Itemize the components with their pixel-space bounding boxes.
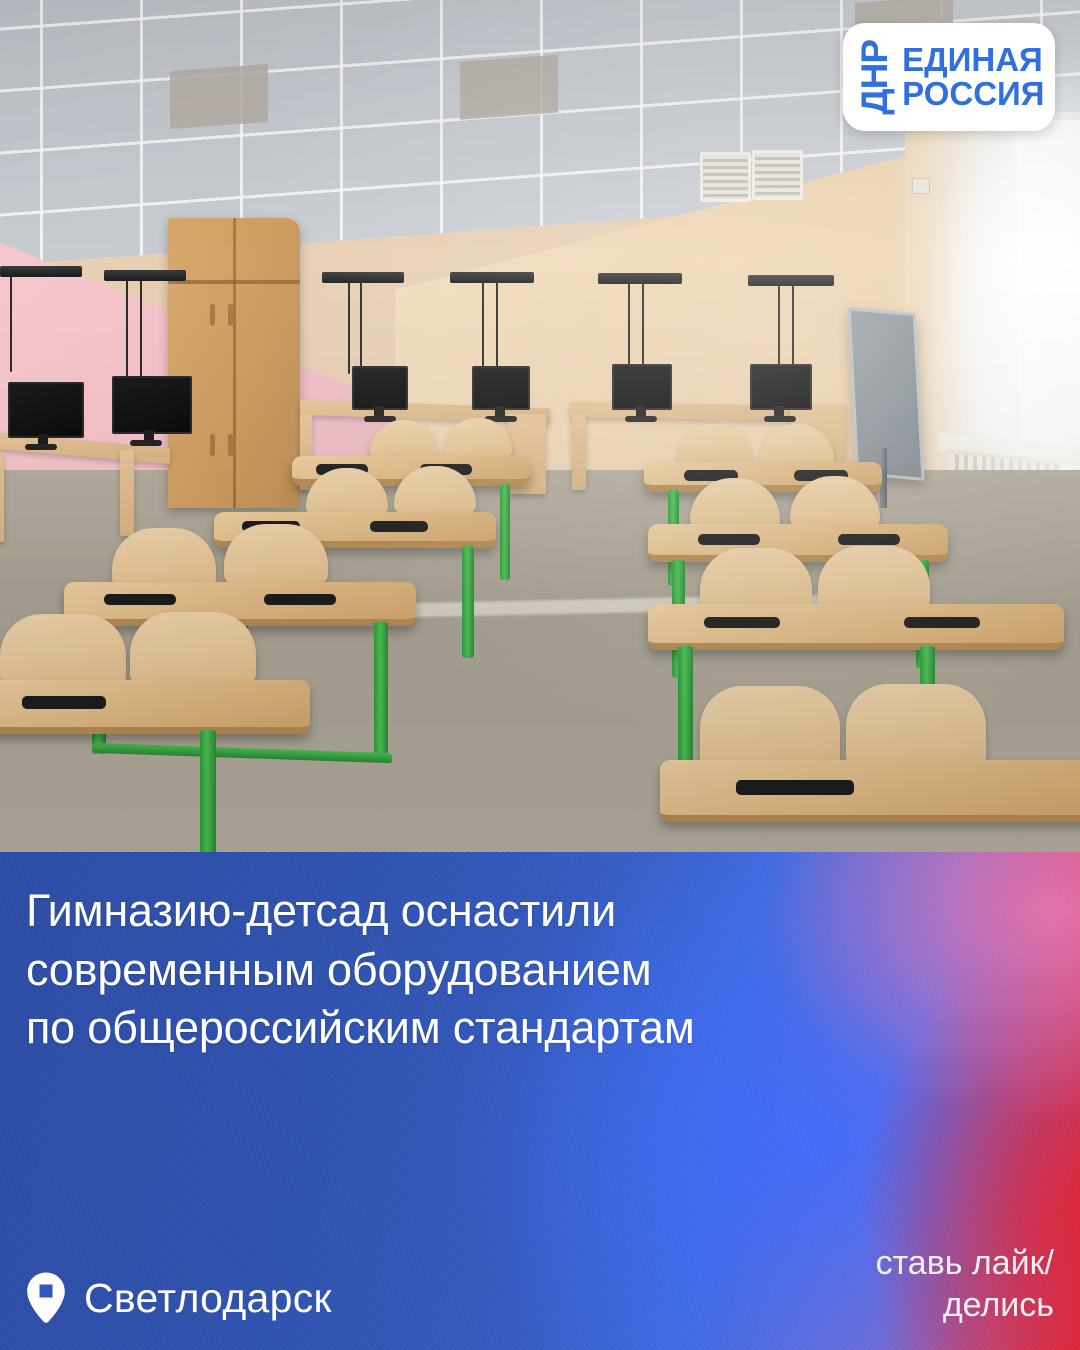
computer-desk bbox=[120, 450, 134, 536]
desk-leg bbox=[200, 730, 216, 858]
monitor-screen bbox=[612, 364, 672, 410]
power-cable bbox=[642, 283, 644, 371]
cabinet-door-split bbox=[233, 218, 236, 508]
student-desk bbox=[0, 680, 310, 734]
student-chair bbox=[846, 684, 986, 766]
location-label: Светлодарск bbox=[84, 1275, 332, 1322]
desk-leg bbox=[374, 622, 388, 762]
headline-line-1: Гимназию-детсад оснастили bbox=[26, 882, 986, 941]
logo-party-name: ЕДИНАЯ РОССИЯ bbox=[902, 43, 1044, 110]
computer-desk bbox=[0, 452, 4, 542]
power-cable bbox=[496, 282, 498, 374]
monitor-screen bbox=[352, 366, 408, 410]
power-cable bbox=[10, 276, 12, 372]
pencil bbox=[736, 780, 854, 795]
computer-monitor bbox=[472, 366, 526, 406]
logo-party-line2: РОССИЯ bbox=[902, 77, 1044, 111]
ceiling-tile-dark bbox=[460, 55, 558, 120]
cabinet-handle bbox=[210, 304, 215, 326]
logo-party-line1: ЕДИНАЯ bbox=[902, 43, 1044, 77]
headline-line-2: современным оборудованием bbox=[26, 941, 986, 1000]
student-chair bbox=[700, 548, 812, 612]
student-chair bbox=[0, 614, 126, 686]
student-desk bbox=[660, 760, 1080, 822]
computer-monitor bbox=[750, 364, 808, 406]
ventilation-grille bbox=[700, 152, 751, 202]
headline-line-3: по общероссийским стандартам bbox=[26, 999, 986, 1058]
power-strip bbox=[598, 273, 682, 284]
student-chair bbox=[112, 528, 216, 588]
power-strip bbox=[450, 272, 534, 283]
ventilation-grille bbox=[752, 150, 803, 200]
monitor-screen bbox=[750, 364, 812, 410]
power-cable bbox=[628, 283, 630, 367]
computer-monitor bbox=[112, 376, 188, 430]
student-chair bbox=[370, 420, 438, 460]
wooden-cabinet bbox=[168, 218, 300, 508]
pencil bbox=[264, 594, 336, 605]
computer-monitor bbox=[352, 366, 404, 406]
map-pin-icon bbox=[26, 1272, 66, 1324]
desk-surface bbox=[660, 760, 1080, 822]
computer-monitor bbox=[8, 382, 80, 434]
pencil bbox=[22, 696, 106, 709]
student-chair bbox=[700, 686, 840, 768]
monitor-screen bbox=[472, 366, 530, 410]
student-chair bbox=[444, 418, 512, 458]
power-strip bbox=[0, 266, 82, 277]
call-to-action: ставь лайк/ делись bbox=[876, 1243, 1054, 1326]
student-chair bbox=[818, 546, 930, 610]
power-strip bbox=[104, 270, 186, 281]
wall-socket bbox=[912, 178, 930, 194]
monitor-base bbox=[25, 444, 57, 450]
monitor-base bbox=[625, 416, 657, 422]
student-chair bbox=[690, 478, 780, 530]
power-cable bbox=[348, 282, 350, 374]
ceiling-tile-dark bbox=[170, 64, 268, 129]
cabinet-handle bbox=[210, 434, 215, 456]
pencil bbox=[370, 521, 428, 532]
power-cable bbox=[360, 282, 362, 378]
student-desk bbox=[648, 604, 1064, 650]
power-cable bbox=[140, 280, 142, 390]
pencil bbox=[704, 617, 780, 628]
power-strip bbox=[322, 272, 404, 283]
bottom-banner: Гимназию-детсад оснастили современным об… bbox=[0, 852, 1080, 1350]
pencil bbox=[104, 594, 176, 605]
cabinet-handle bbox=[228, 304, 233, 326]
student-chair bbox=[130, 612, 256, 684]
desk-leg bbox=[462, 546, 474, 658]
power-cable bbox=[126, 280, 128, 386]
cabinet-handle bbox=[228, 434, 233, 456]
computer-desk bbox=[572, 414, 586, 490]
logo-region-abbr: ДНР bbox=[857, 40, 892, 115]
monitor-screen bbox=[8, 382, 84, 438]
united-russia-logo[interactable]: ДНР ЕДИНАЯ РОССИЯ bbox=[843, 23, 1055, 131]
pencil bbox=[698, 534, 760, 545]
cta-line-2: делись bbox=[876, 1285, 1054, 1326]
power-cable bbox=[482, 282, 484, 370]
power-strip bbox=[748, 275, 834, 286]
power-cable bbox=[792, 285, 794, 369]
student-chair bbox=[394, 466, 476, 514]
location-block: Светлодарск bbox=[26, 1272, 332, 1324]
pencil bbox=[904, 617, 980, 628]
social-media-card: ДНР ЕДИНАЯ РОССИЯ Гимназию-детсад оснаст… bbox=[0, 0, 1080, 1350]
cta-line-1: ставь лайк/ bbox=[876, 1243, 1054, 1284]
power-cable bbox=[778, 285, 780, 365]
headline: Гимназию-детсад оснастили современным об… bbox=[26, 882, 986, 1058]
monitor-screen bbox=[112, 376, 192, 434]
computer-monitor bbox=[612, 364, 668, 406]
monitor-base bbox=[764, 416, 796, 422]
student-chair bbox=[224, 524, 328, 584]
pencil bbox=[838, 534, 900, 545]
student-chair bbox=[790, 476, 880, 528]
desk-leg bbox=[500, 484, 510, 580]
monitor-base bbox=[130, 440, 162, 446]
student-chair bbox=[306, 468, 388, 516]
